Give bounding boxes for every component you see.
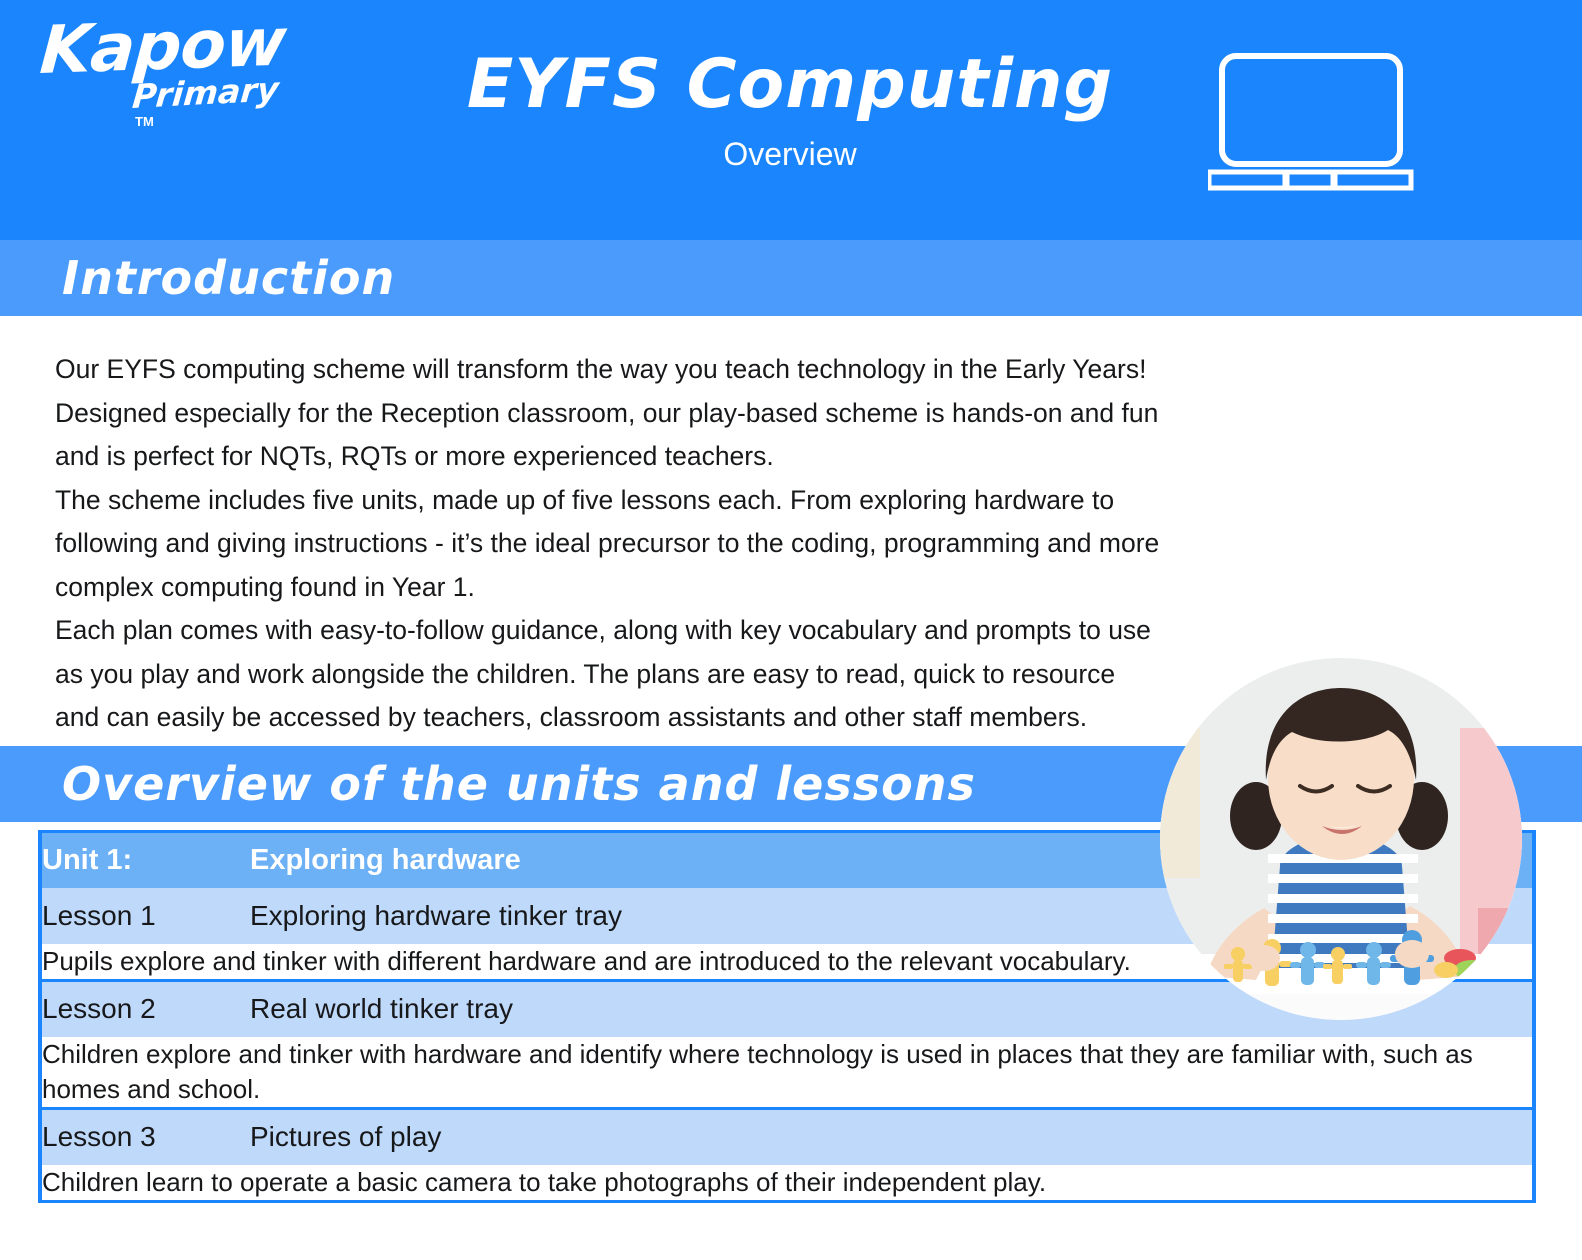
lesson-title-cell: Pictures of play <box>250 1109 1534 1165</box>
lesson-description-cell: Children explore and tinker with hardwar… <box>40 1037 1534 1109</box>
lesson-label: Lesson 1 <box>42 900 156 931</box>
lesson-label-cell: Lesson 3 <box>40 1109 250 1165</box>
page-title: EYFS Computing <box>430 44 1150 126</box>
section-heading-overview: Overview of the units and lessons <box>62 755 976 813</box>
unit-title: Exploring hardware <box>250 844 521 876</box>
lesson-label: Lesson 2 <box>42 993 156 1024</box>
page-subtitle: Overview <box>430 134 1150 174</box>
laptop-icon <box>1208 52 1428 192</box>
table-row-lesson[interactable]: Lesson 3 Pictures of play <box>40 1109 1534 1165</box>
table-row-description: Children learn to operate a basic camera… <box>40 1165 1534 1202</box>
lesson-label-cell: Lesson 2 <box>40 981 250 1037</box>
intro-paragraph: Designed especially for the Reception cl… <box>55 392 1165 479</box>
introduction-photo <box>1160 658 1522 1020</box>
lesson-description-cell: Children learn to operate a basic camera… <box>40 1165 1534 1202</box>
kapow-primary-logo: Kapow PrimaryTM <box>38 18 298 138</box>
lesson-description: Pupils explore and tinker with different… <box>42 946 1131 976</box>
introduction-body: Our EYFS computing scheme will transform… <box>0 316 1582 746</box>
section-bar-introduction: Introduction <box>0 240 1582 316</box>
lesson-label: Lesson 3 <box>42 1121 156 1152</box>
lesson-title: Pictures of play <box>250 1121 441 1152</box>
trademark-symbol: TM <box>135 114 154 129</box>
lesson-description: Children explore and tinker with hardwar… <box>42 1039 1473 1104</box>
header-title-block: EYFS Computing Overview <box>430 44 1150 174</box>
intro-paragraph: Each plan comes with easy-to-follow guid… <box>55 609 1165 740</box>
unit-label: Unit 1: <box>42 844 132 876</box>
page-header: Kapow PrimaryTM EYFS Computing Overview <box>0 0 1582 240</box>
lesson-title: Exploring hardware tinker tray <box>250 900 622 931</box>
lesson-description: Children learn to operate a basic camera… <box>42 1167 1046 1197</box>
intro-paragraph: Our EYFS computing scheme will transform… <box>55 348 1165 392</box>
logo-sub-wordmark: Primary <box>131 72 280 114</box>
introduction-paragraphs: Our EYFS computing scheme will transform… <box>55 348 1165 740</box>
logo-sub-wordmark-wrap: PrimaryTM <box>134 80 298 137</box>
lesson-label-cell: Lesson 1 <box>40 888 250 944</box>
table-row-description: Children explore and tinker with hardwar… <box>40 1037 1534 1109</box>
section-heading-introduction: Introduction <box>62 249 395 307</box>
intro-paragraph: The scheme includes five units, made up … <box>55 479 1165 610</box>
lesson-title: Real world tinker tray <box>250 993 513 1024</box>
unit-label-cell: Unit 1: <box>40 832 250 888</box>
